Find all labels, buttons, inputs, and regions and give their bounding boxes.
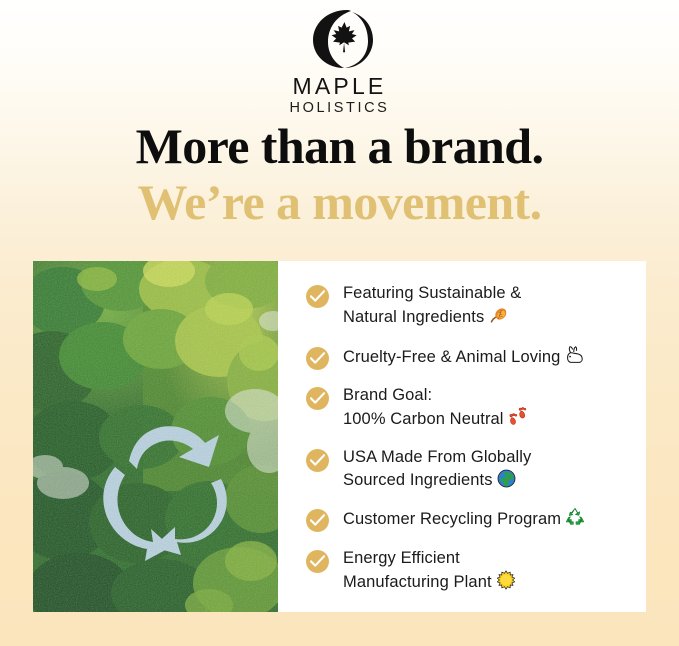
feature-line-2: Sourced Ingredients [343, 471, 493, 489]
headline: More than a brand. We’re a movement. [0, 118, 679, 230]
globe-icon [497, 469, 516, 488]
feature-item: Energy Efficient Manufacturing Plant [306, 548, 630, 594]
feature-text: Featuring Sustainable & Natural Ingredie… [343, 283, 521, 329]
feature-line-1: Energy Efficient [343, 549, 460, 567]
feature-line-2: Manufacturing Plant [343, 573, 492, 591]
feature-item: Featuring Sustainable & Natural Ingredie… [306, 283, 630, 329]
check-circle-icon [306, 285, 329, 308]
sun-icon [496, 570, 516, 590]
promotional-poster: MAPLE HOLISTICS More than a brand. We’re… [0, 0, 679, 646]
feature-text: Energy Efficient Manufacturing Plant [343, 548, 516, 594]
maple-leaf-crescent-logo-icon [307, 8, 373, 70]
feature-text: Brand Goal: 100% Carbon Neutral [343, 385, 528, 431]
feature-line-1: Featuring Sustainable & [343, 284, 521, 302]
footprints-icon [508, 407, 528, 427]
check-circle-icon [306, 347, 329, 370]
check-circle-icon [306, 387, 329, 410]
headline-line-2: We’re a movement. [0, 174, 679, 230]
feature-item: Customer Recycling Program [306, 507, 630, 532]
check-circle-icon [306, 509, 329, 532]
check-circle-icon [306, 550, 329, 573]
check-circle-icon [306, 449, 329, 472]
feature-item: USA Made From Globally Sourced Ingredien… [306, 447, 630, 492]
aerial-forest-photo-graphic [33, 261, 278, 612]
aerial-forest-photo [33, 261, 278, 612]
feature-line-1: USA Made From Globally [343, 448, 531, 466]
brand-name: MAPLE [0, 74, 679, 98]
brand-subtitle: HOLISTICS [0, 100, 679, 116]
feature-line-1: Customer Recycling Program [343, 510, 561, 528]
feature-item: Cruelty-Free & Animal Loving [306, 345, 630, 370]
fallen-leaf-icon [488, 305, 508, 325]
feature-text: Cruelty-Free & Animal Loving [343, 345, 585, 369]
feature-text: USA Made From Globally Sourced Ingredien… [343, 447, 531, 492]
headline-line-1: More than a brand. [0, 118, 679, 174]
feature-item: Brand Goal: 100% Carbon Neutral [306, 385, 630, 431]
feature-line-2: Natural Ingredients [343, 308, 484, 326]
brand-lockup: MAPLE HOLISTICS [0, 8, 679, 116]
feature-line-1: Cruelty-Free & Animal Loving [343, 348, 560, 366]
rabbit-icon [564, 345, 585, 365]
features-card: Featuring Sustainable & Natural Ingredie… [33, 261, 646, 612]
feature-line-1: Brand Goal: [343, 386, 432, 404]
feature-list: Featuring Sustainable & Natural Ingredie… [278, 261, 646, 612]
feature-text: Customer Recycling Program [343, 507, 585, 531]
recycling-symbol-icon [565, 507, 585, 527]
feature-line-2: 100% Carbon Neutral [343, 410, 504, 428]
